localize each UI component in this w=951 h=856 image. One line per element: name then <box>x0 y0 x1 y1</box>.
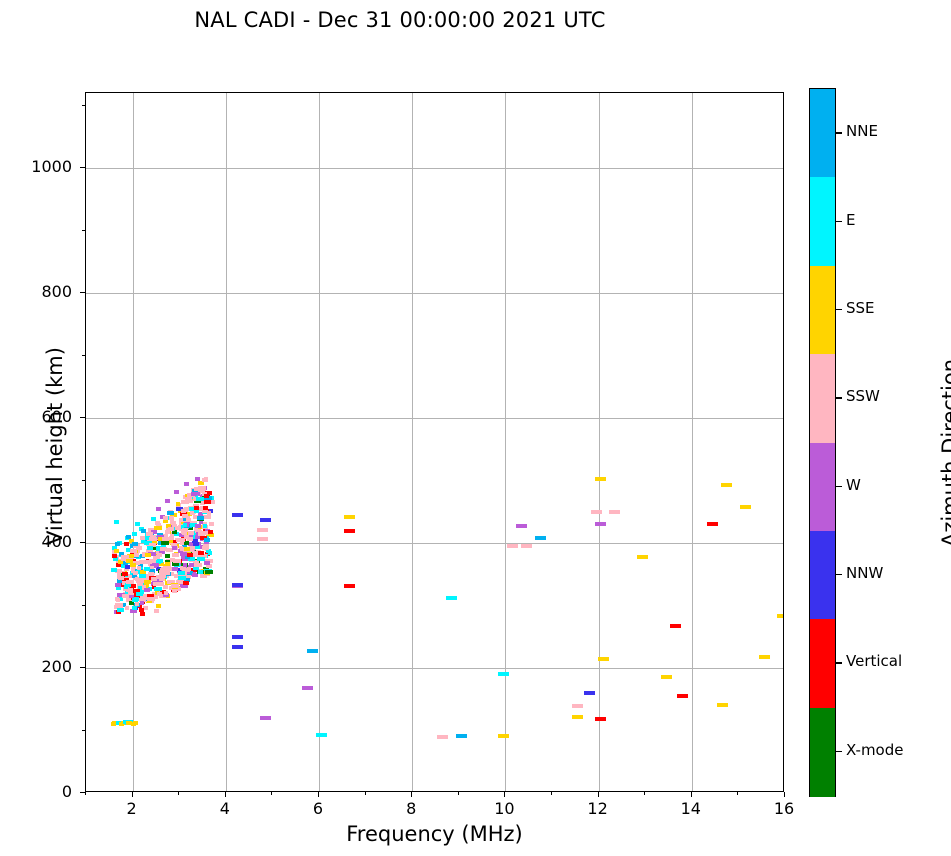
data-mark <box>168 527 174 531</box>
data-mark <box>595 522 606 526</box>
data-mark <box>188 537 193 541</box>
y-tick <box>80 542 85 543</box>
data-mark <box>595 477 606 481</box>
data-mark <box>204 494 209 498</box>
data-mark <box>124 542 129 546</box>
colorbar-label-vertical: Vertical <box>846 652 902 670</box>
data-mark <box>132 606 137 610</box>
data-mark <box>157 582 164 586</box>
data-mark <box>507 544 518 548</box>
data-mark <box>172 553 179 557</box>
data-mark <box>165 554 170 558</box>
data-mark <box>112 554 117 558</box>
data-mark <box>572 715 583 719</box>
y-tick-minor <box>82 605 85 606</box>
colorbar-tick <box>836 132 842 133</box>
data-mark <box>125 565 130 569</box>
data-mark <box>130 549 137 553</box>
data-mark <box>147 546 153 550</box>
data-mark <box>198 570 203 574</box>
y-tick <box>80 417 85 418</box>
data-mark <box>160 577 165 581</box>
x-tick <box>225 792 226 797</box>
y-tick-minor <box>82 355 85 356</box>
data-mark <box>148 572 154 576</box>
data-mark <box>151 537 157 541</box>
x-tick <box>318 792 319 797</box>
data-mark <box>182 514 188 518</box>
y-tick-label: 200 <box>10 657 72 676</box>
data-mark <box>446 596 457 600</box>
data-mark <box>173 559 181 563</box>
colorbar-band-vertical <box>810 619 835 708</box>
data-mark <box>437 735 448 739</box>
data-mark <box>122 594 129 598</box>
gridline-vertical <box>505 93 506 791</box>
data-mark <box>111 568 117 572</box>
data-mark <box>115 583 121 587</box>
data-mark <box>191 492 197 496</box>
colorbar-band-ssw <box>810 354 835 443</box>
data-mark <box>204 538 210 542</box>
data-mark <box>197 557 205 561</box>
data-mark <box>161 541 169 545</box>
data-mark <box>139 608 144 612</box>
data-mark <box>198 532 205 536</box>
y-tick-minor <box>82 230 85 231</box>
data-mark <box>183 563 187 567</box>
data-mark <box>232 635 243 639</box>
data-mark <box>147 597 155 601</box>
y-axis-label: Virtual height (km) <box>43 286 67 606</box>
x-tick <box>784 792 785 797</box>
data-mark <box>121 555 129 559</box>
data-mark <box>183 523 187 527</box>
data-mark <box>232 513 243 517</box>
data-mark <box>185 497 192 501</box>
gridline-vertical <box>319 93 320 791</box>
data-mark <box>115 603 123 607</box>
data-mark <box>184 547 190 551</box>
data-mark <box>115 542 120 546</box>
x-tick-minor <box>178 792 179 795</box>
colorbar-label-nne: NNE <box>846 122 878 140</box>
x-tick <box>411 792 412 797</box>
data-mark <box>344 584 355 588</box>
data-mark <box>759 655 770 659</box>
x-tick <box>504 792 505 797</box>
data-mark <box>157 559 163 563</box>
data-mark <box>122 572 128 576</box>
data-mark <box>126 535 131 539</box>
data-mark <box>144 588 150 592</box>
x-tick-minor <box>365 792 366 795</box>
data-mark <box>184 482 189 486</box>
data-mark <box>130 563 136 567</box>
y-tick <box>80 667 85 668</box>
data-mark <box>157 553 162 557</box>
data-mark <box>203 544 207 548</box>
data-mark <box>151 577 157 581</box>
data-mark <box>189 563 194 567</box>
colorbar <box>809 88 836 797</box>
data-mark <box>135 522 140 526</box>
data-mark <box>183 581 189 585</box>
data-mark <box>260 518 271 522</box>
y-tick-minor <box>82 480 85 481</box>
x-tick <box>598 792 599 797</box>
data-mark <box>193 542 199 546</box>
x-tick-label: 8 <box>391 799 431 818</box>
data-mark <box>707 522 718 526</box>
x-tick-minor <box>85 792 86 795</box>
y-tick <box>80 167 85 168</box>
y-tick-label: 0 <box>10 782 72 801</box>
data-mark <box>203 524 207 528</box>
data-mark <box>204 561 210 565</box>
data-mark <box>140 601 144 605</box>
colorbar-band-x-mode <box>810 708 835 797</box>
data-mark <box>721 483 732 487</box>
y-tick-minor <box>82 105 85 106</box>
data-mark <box>126 580 134 584</box>
colorbar-tick <box>836 751 842 752</box>
colorbar-band-nnw <box>810 531 835 620</box>
data-mark <box>257 528 268 532</box>
data-mark <box>164 591 168 595</box>
colorbar-tick <box>836 397 842 398</box>
colorbar-band-e <box>810 177 835 266</box>
data-mark <box>344 529 355 533</box>
data-mark <box>202 478 208 482</box>
data-mark <box>197 516 204 520</box>
x-tick-label: 14 <box>671 799 711 818</box>
data-mark <box>117 575 121 579</box>
data-mark <box>159 574 166 578</box>
data-mark <box>194 487 202 491</box>
data-mark <box>257 537 268 541</box>
data-mark <box>521 544 532 548</box>
data-mark <box>140 536 145 540</box>
data-mark <box>535 536 546 540</box>
gridline-vertical <box>412 93 413 791</box>
gridline-horizontal <box>86 418 783 419</box>
data-mark <box>209 522 214 526</box>
data-mark <box>232 583 243 587</box>
x-tick-label: 6 <box>298 799 338 818</box>
x-tick-label: 10 <box>484 799 524 818</box>
data-mark <box>498 672 509 676</box>
data-mark <box>598 657 609 661</box>
colorbar-tick <box>836 309 842 310</box>
data-mark <box>717 703 728 707</box>
x-tick-label: 16 <box>764 799 804 818</box>
y-tick-label: 1000 <box>10 157 72 176</box>
x-tick-label: 4 <box>205 799 245 818</box>
data-mark <box>136 579 142 583</box>
data-mark <box>156 507 161 511</box>
colorbar-tick <box>836 221 842 222</box>
data-mark <box>125 606 129 610</box>
data-mark <box>232 645 243 649</box>
data-mark <box>132 542 138 546</box>
x-tick-minor <box>458 792 459 795</box>
colorbar-label-sse: SSE <box>846 299 875 317</box>
gridline-vertical <box>692 93 693 791</box>
y-tick-minor <box>82 730 85 731</box>
data-mark <box>140 596 147 600</box>
data-mark <box>344 515 355 519</box>
gridline-horizontal <box>86 668 783 669</box>
y-tick <box>80 792 85 793</box>
data-mark <box>154 526 162 530</box>
x-tick-label: 2 <box>112 799 152 818</box>
data-mark <box>174 490 179 494</box>
data-mark <box>132 532 137 536</box>
x-tick-minor <box>644 792 645 795</box>
data-mark <box>591 510 602 514</box>
data-mark <box>180 571 185 575</box>
colorbar-band-w <box>810 443 835 532</box>
data-mark <box>456 734 467 738</box>
data-mark <box>180 541 184 545</box>
data-mark <box>516 524 527 528</box>
data-mark <box>182 528 188 532</box>
colorbar-tick <box>836 662 842 663</box>
data-mark <box>145 553 151 557</box>
colorbar-title: Azimuth Direction <box>938 303 951 603</box>
data-mark <box>198 551 204 555</box>
data-mark <box>131 722 136 726</box>
data-mark <box>124 585 128 589</box>
colorbar-label-nnw: NNW <box>846 564 883 582</box>
colorbar-label-w: W <box>846 476 861 494</box>
data-mark <box>167 511 174 515</box>
plot-area <box>85 92 784 792</box>
data-mark <box>203 506 208 510</box>
data-mark <box>777 614 784 618</box>
data-mark <box>185 568 190 572</box>
data-mark <box>169 516 174 520</box>
colorbar-tick <box>836 574 842 575</box>
data-mark <box>208 530 213 534</box>
data-mark <box>637 555 648 559</box>
data-mark <box>140 612 145 616</box>
x-tick-minor <box>737 792 738 795</box>
data-mark <box>144 580 151 584</box>
gridline-vertical <box>226 93 227 791</box>
data-mark <box>140 560 146 564</box>
page-title: NAL CADI - Dec 31 00:00:00 2021 UTC <box>0 8 800 32</box>
x-tick-minor <box>551 792 552 795</box>
data-mark <box>117 608 124 612</box>
colorbar-label-x-mode: X-mode <box>846 741 903 759</box>
x-axis-label: Frequency (MHz) <box>85 822 784 846</box>
colorbar-band-sse <box>810 266 835 355</box>
data-mark <box>169 536 174 540</box>
y-tick <box>80 292 85 293</box>
data-mark <box>307 649 318 653</box>
x-tick-label: 12 <box>578 799 618 818</box>
data-mark <box>194 506 199 510</box>
data-mark <box>171 584 178 588</box>
data-mark <box>595 717 606 721</box>
data-mark <box>194 563 202 567</box>
data-mark <box>572 704 583 708</box>
data-mark <box>156 604 161 608</box>
data-mark <box>133 571 138 575</box>
gridline-vertical <box>599 93 600 791</box>
data-mark <box>144 567 150 571</box>
data-mark <box>163 516 168 520</box>
data-mark <box>165 499 170 503</box>
data-mark <box>154 609 159 613</box>
x-tick-minor <box>271 792 272 795</box>
data-mark <box>740 505 751 509</box>
data-mark <box>316 733 327 737</box>
data-mark <box>132 598 138 602</box>
data-mark <box>172 546 177 550</box>
gridline-horizontal <box>86 168 783 169</box>
colorbar-label-e: E <box>846 211 855 229</box>
data-mark <box>302 686 313 690</box>
data-mark <box>176 538 181 542</box>
colorbar-tick <box>836 486 842 487</box>
data-mark <box>202 509 208 513</box>
data-mark <box>498 734 509 738</box>
data-mark <box>186 518 191 522</box>
data-mark <box>176 502 180 506</box>
data-mark <box>157 592 162 596</box>
data-mark <box>195 524 201 528</box>
data-mark <box>609 510 620 514</box>
data-mark <box>180 547 184 551</box>
data-mark <box>584 691 595 695</box>
data-mark <box>143 606 148 610</box>
data-mark <box>114 520 119 524</box>
data-mark <box>260 716 271 720</box>
data-mark <box>208 551 212 555</box>
gridline-horizontal <box>86 293 783 294</box>
data-mark <box>115 597 119 601</box>
data-mark <box>205 570 213 574</box>
data-mark <box>677 694 688 698</box>
data-mark <box>670 624 681 628</box>
x-tick <box>132 792 133 797</box>
colorbar-band-nne <box>810 89 835 178</box>
gridline-vertical <box>133 93 134 791</box>
data-mark <box>204 500 211 504</box>
colorbar-label-ssw: SSW <box>846 387 880 405</box>
ionogram-figure: NAL CADI - Dec 31 00:00:00 2021 UTC 2468… <box>0 0 951 856</box>
data-mark <box>661 675 672 679</box>
data-mark <box>175 526 180 530</box>
x-tick <box>691 792 692 797</box>
